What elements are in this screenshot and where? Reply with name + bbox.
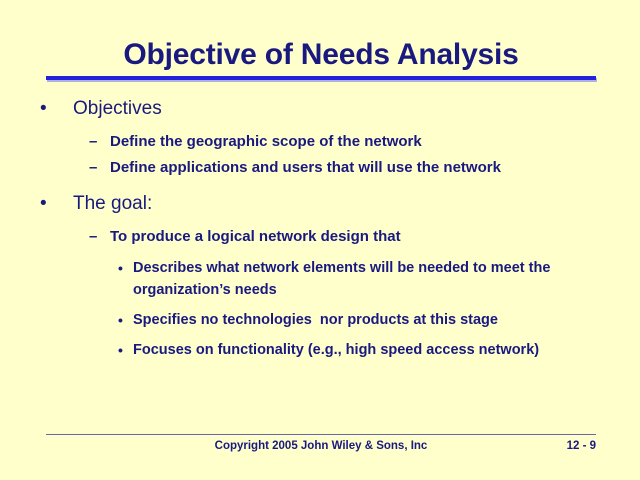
bullet-text: Describes what network elements will be … — [133, 257, 640, 301]
bullet-level3-specifies-no-technologies: • Specifies no technologies nor products… — [0, 309, 640, 331]
bullet-level1-the-goal: • The goal: — [0, 191, 640, 217]
bullet-dot-icon: • — [118, 257, 133, 279]
bullet-text: Define applications and users that will … — [110, 156, 640, 179]
bullet-level1-objectives: • Objectives — [0, 96, 640, 122]
page-number: 12 - 9 — [567, 440, 596, 452]
footer: Copyright 2005 John Wiley & Sons, Inc 12… — [46, 440, 596, 458]
title-block: Objective of Needs Analysis — [46, 38, 596, 80]
bullet-text: The goal: — [73, 191, 640, 217]
bullet-dash-icon: – — [89, 130, 110, 153]
bullet-level3-describes-network-elements: • Describes what network elements will b… — [0, 257, 640, 301]
bullet-dot-icon: • — [40, 96, 73, 122]
bullet-dash-icon: – — [89, 156, 110, 179]
slide: Objective of Needs Analysis • Objectives… — [0, 0, 640, 480]
bullet-level2-applications-users: – Define applications and users that wil… — [0, 156, 640, 179]
bullet-text: Specifies no technologies nor products a… — [133, 309, 640, 331]
bullet-dot-icon: • — [40, 191, 73, 217]
bullet-dot-icon: • — [118, 309, 133, 331]
bullet-text: Objectives — [73, 96, 640, 122]
bullet-level3-focuses-on-functionality: • Focuses on functionality (e.g., high s… — [0, 339, 640, 361]
spacer — [0, 182, 640, 191]
bullet-level2-logical-network-design: – To produce a logical network design th… — [0, 225, 640, 248]
page-title: Objective of Needs Analysis — [46, 38, 596, 72]
slide-body: • Objectives – Define the geographic sco… — [0, 96, 640, 363]
bullet-text: Focuses on functionality (e.g., high spe… — [133, 339, 640, 361]
bullet-dash-icon: – — [89, 225, 110, 248]
footer-divider — [46, 434, 596, 435]
copyright-notice: Copyright 2005 John Wiley & Sons, Inc — [46, 440, 596, 452]
bullet-dot-icon: • — [118, 339, 133, 361]
bullet-level2-geographic-scope: – Define the geographic scope of the net… — [0, 130, 640, 153]
bullet-text: To produce a logical network design that — [110, 225, 640, 248]
title-underline-rule — [46, 76, 596, 80]
bullet-text: Define the geographic scope of the netwo… — [110, 130, 640, 153]
